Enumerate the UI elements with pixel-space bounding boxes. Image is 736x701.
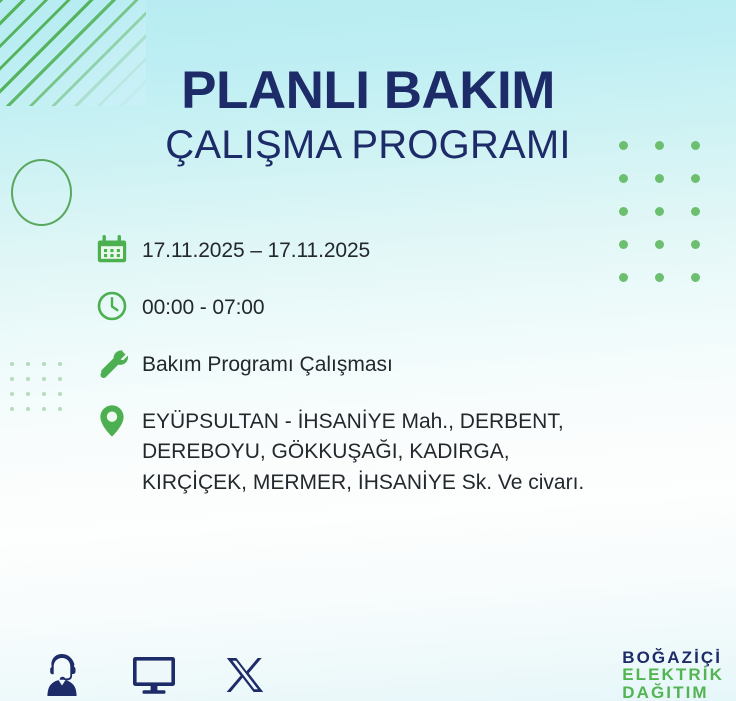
work-type-text: Bakım Programı Çalışması xyxy=(142,346,393,380)
x-twitter-icon[interactable] xyxy=(224,654,264,701)
logo-line-dagitim: DAĞITIM xyxy=(622,684,724,701)
circle-outline-decoration xyxy=(11,159,72,226)
planned-maintenance-poster: PLANLI BAKIM ÇALIŞMA PROGRAMI xyxy=(0,0,736,701)
calendar-icon xyxy=(96,232,142,275)
logo-line-elektrik: ELEKTRİK xyxy=(622,666,724,683)
location-text: EYÜPSULTAN - İHSANİYE Mah., DERBENT, DER… xyxy=(142,403,584,498)
logo-line-bogazici: BOĞAZİÇİ xyxy=(622,649,724,666)
time-range-text: 00:00 - 07:00 xyxy=(142,289,264,323)
dot-grid-left-decoration xyxy=(10,362,74,422)
page-subtitle: ÇALIŞMA PROGRAMI xyxy=(0,125,736,165)
call-center-agent-icon[interactable] xyxy=(40,650,84,701)
clock-icon xyxy=(96,289,142,332)
maintenance-details: 17.11.2025 – 17.11.2025 00:00 - 07:00 xyxy=(96,232,696,512)
detail-row-location: EYÜPSULTAN - İHSANİYE Mah., DERBENT, DER… xyxy=(96,403,696,498)
detail-row-time: 00:00 - 07:00 xyxy=(96,289,696,332)
detail-row-work-type: Bakım Programı Çalışması xyxy=(96,346,696,389)
date-range-text: 17.11.2025 – 17.11.2025 xyxy=(142,232,370,266)
map-pin-icon xyxy=(96,403,142,446)
bedas-logo: BOĞAZİÇİ ELEKTRİK DAĞITIM xyxy=(622,649,724,701)
detail-row-date: 17.11.2025 – 17.11.2025 xyxy=(96,232,696,275)
computer-monitor-icon[interactable] xyxy=(131,654,177,701)
tools-icon xyxy=(96,346,142,389)
footer-contact-icons xyxy=(40,650,264,701)
poster-header: PLANLI BAKIM ÇALIŞMA PROGRAMI xyxy=(0,64,736,165)
page-title: PLANLI BAKIM xyxy=(0,64,736,117)
